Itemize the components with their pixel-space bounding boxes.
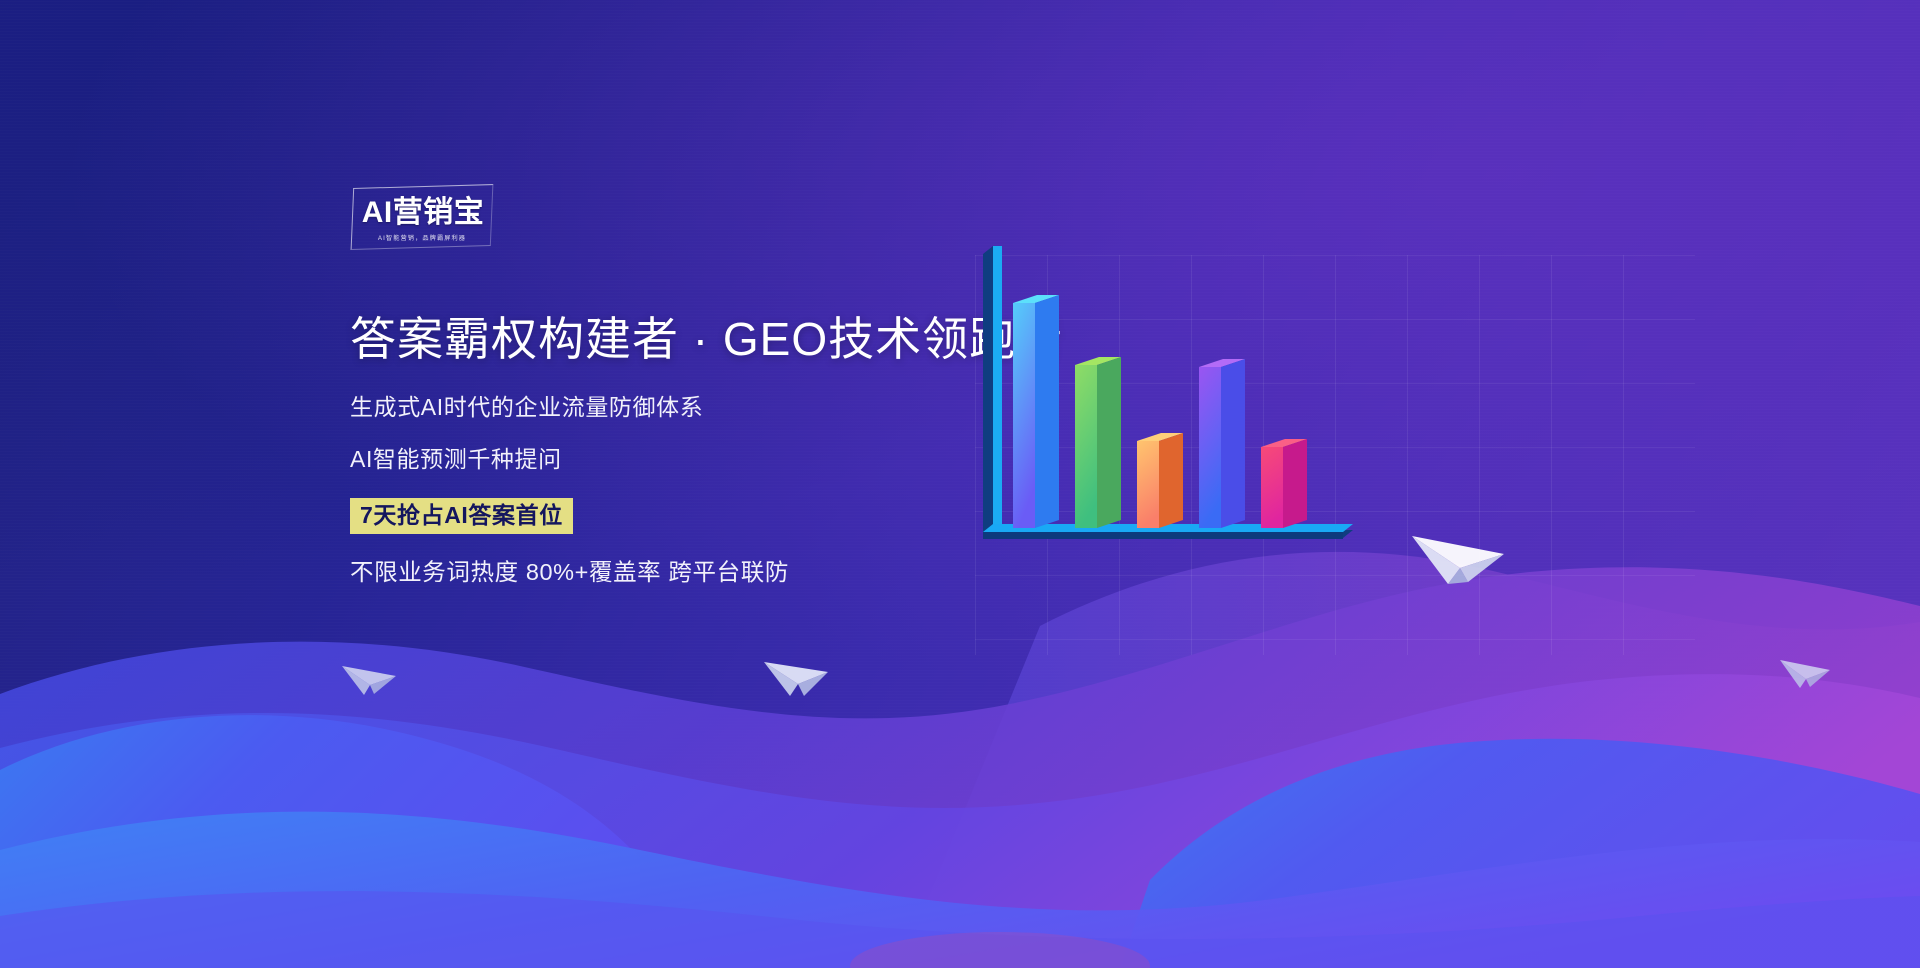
bar-chart-illustration [975,240,1395,560]
bar-5 [1261,439,1307,528]
bar-chart-svg [975,240,1395,570]
highlight-badge: 7天抢占AI答案首位 [350,498,573,534]
paper-plane-mid-center-icon [762,646,836,702]
logo-tagline: AI智能营销，品牌霸屏利器 [352,233,492,242]
brand-logo[interactable]: AI营销宝 AI智能营销，品牌霸屏利器 [352,186,492,248]
paper-plane-large-icon [1408,512,1520,592]
logo-wordmark: AI营销宝 [348,198,498,228]
chart-y-axis [983,246,1002,538]
bar-4 [1199,359,1245,528]
bar-2 [1075,357,1121,528]
hero-banner: AI营销宝 AI智能营销，品牌霸屏利器 答案霸权构建者 · GEO技术领跑者 生… [0,0,1920,968]
paper-plane-mid-left-icon [340,652,404,700]
paper-plane-far-right-icon [1778,648,1836,692]
bar-1 [1013,295,1059,528]
bar-3 [1137,433,1183,528]
